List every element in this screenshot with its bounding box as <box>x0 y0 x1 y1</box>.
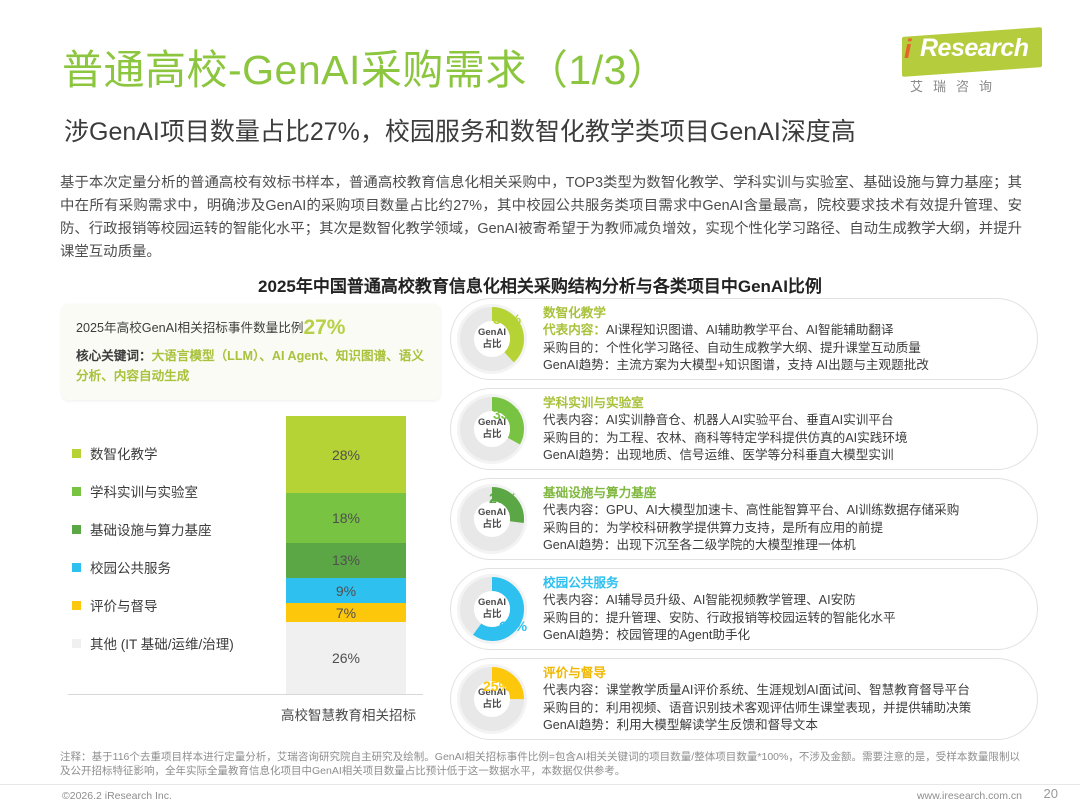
core-keywords-label: 核心关键词： <box>76 349 152 363</box>
card-detail-row: 代表内容：GPU、AI大模型加速卡、高性能智算平台、AI训练数据存储采购 <box>543 502 1023 520</box>
card-detail-label: 代表内容： <box>543 593 606 607</box>
card-category-title: 数智化教学 <box>543 305 1023 322</box>
card-detail-label: GenAI趋势： <box>543 628 616 642</box>
card-detail-text: 出现地质、信号运维、医学等分科垂直大模型实训 <box>616 448 893 462</box>
legend-item[interactable]: 其他 (IT 基础/运维/治理) <box>72 624 282 662</box>
keyword-ratio-line: 2025年高校GenAI相关招标事件数量比例27% <box>76 318 428 338</box>
iresearch-logo: i Research 艾瑞咨询 <box>894 28 1042 100</box>
bar-segment[interactable]: 7% <box>286 603 406 622</box>
page-subtitle: 涉GenAI项目数量占比27%，校园服务和数智化教学类项目GenAI深度高 <box>64 112 856 148</box>
core-keywords-line: 核心关键词：大语言模型（LLM）、AI Agent、知识图谱、语义分析、内容自动… <box>76 346 428 386</box>
card-content: 数智化教学代表内容：AI课程知识图谱、AI辅助教学平台、AI智能辅助翻译采购目的… <box>543 305 1023 375</box>
card-detail-row: GenAI趋势：主流方案为大模型+知识图谱，支持 AI出题与主观题批改 <box>543 357 1023 375</box>
legend-label: 其他 (IT 基础/运维/治理) <box>90 633 234 653</box>
legend-item[interactable]: 校园公共服务 <box>72 548 282 586</box>
bar-segment-value: 28% <box>332 447 360 463</box>
genai-share-donut-chart: GenAI占比60% <box>455 572 529 646</box>
card-detail-text: 课堂教学质量AI评价系统、生涯规划AI面试间、智慧教育督导平台 <box>606 683 970 697</box>
card-category-title: 基础设施与算力基座 <box>543 485 1023 502</box>
card-detail-row: 采购目的：利用视频、语音识别技术客观评估师生课堂表现，并提供辅助决策 <box>543 700 1023 718</box>
card-detail-text: 为学校科研教学提供算力支持，是所有应用的前提 <box>606 521 883 535</box>
legend-label: 数智化教学 <box>90 443 158 463</box>
card-detail-row: GenAI趋势：校园管理的Agent助手化 <box>543 627 1023 645</box>
category-cards-list: GenAI占比38%数智化教学代表内容：AI课程知识图谱、AI辅助教学平台、AI… <box>450 298 1038 748</box>
bar-segment[interactable]: 26% <box>286 622 406 694</box>
card-detail-row: 代表内容：AI辅导员升级、AI智能视频教学管理、AI安防 <box>543 592 1023 610</box>
bar-segment-value: 9% <box>336 583 356 599</box>
copyright-text: ©2026.2 iResearch Inc. <box>62 790 172 802</box>
bar-segment[interactable]: 28% <box>286 416 406 493</box>
card-detail-label: 采购目的： <box>543 431 606 445</box>
card-content: 学科实训与实验室代表内容：AI实训静音仓、机器人AI实验平台、垂直AI实训平台采… <box>543 395 1023 465</box>
donut-percentage-label: 60% <box>499 618 527 634</box>
card-content: 评价与督导代表内容：课堂教学质量AI评价系统、生涯规划AI面试间、智慧教育督导平… <box>543 665 1023 735</box>
footer-divider <box>0 784 1080 785</box>
card-detail-text: 利用视频、语音识别技术客观评估师生课堂表现，并提供辅助决策 <box>606 701 971 715</box>
card-detail-row: 采购目的：为学校科研教学提供算力支持，是所有应用的前提 <box>543 520 1023 538</box>
bar-segment[interactable]: 9% <box>286 578 406 603</box>
card-detail-label: 代表内容： <box>543 323 606 337</box>
card-detail-row: 代表内容：AI实训静音仓、机器人AI实验平台、垂直AI实训平台 <box>543 412 1023 430</box>
chart-axis-line <box>68 694 423 695</box>
card-detail-label: GenAI趋势： <box>543 448 616 462</box>
legend-color-swatch <box>72 449 81 458</box>
logo-chinese-name: 艾瑞咨询 <box>910 76 1002 95</box>
stacked-bar-chart: 数智化教学学科实训与实验室基础设施与算力基座校园公共服务评价与督导其他 (IT … <box>58 416 440 716</box>
page-number: 20 <box>1044 786 1058 801</box>
category-card[interactable]: GenAI占比33%学科实训与实验室代表内容：AI实训静音仓、机器人AI实验平台… <box>450 388 1038 470</box>
card-detail-row: 采购目的：为工程、农林、商科等特定学科提供仿真的AI实践环境 <box>543 430 1023 448</box>
card-detail-label: GenAI趋势： <box>543 538 616 552</box>
card-detail-row: 代表内容：课堂教学质量AI评价系统、生涯规划AI面试间、智慧教育督导平台 <box>543 682 1023 700</box>
category-card[interactable]: GenAI占比38%数智化教学代表内容：AI课程知识图谱、AI辅助教学平台、AI… <box>450 298 1038 380</box>
keyword-summary-box: 2025年高校GenAI相关招标事件数量比例27% 核心关键词：大语言模型（LL… <box>62 304 440 400</box>
card-detail-row: 采购目的：个性化学习路径、自动生成教学大纲、提升课堂互动质量 <box>543 340 1023 358</box>
donut-percentage-label: 27% <box>489 490 517 506</box>
card-content: 校园公共服务代表内容：AI辅导员升级、AI智能视频教学管理、AI安防采购目的：提… <box>543 575 1023 645</box>
card-detail-text: GPU、AI大模型加速卡、高性能智算平台、AI训练数据存储采购 <box>606 503 959 517</box>
chart-title: 2025年中国普通高校教育信息化相关采购结构分析与各类项目中GenAI比例 <box>0 272 1080 297</box>
footnote: 注释：基于116个去重项目样本进行定量分析，艾瑞咨询研究院自主研究及绘制。Gen… <box>60 750 1020 778</box>
card-detail-row: 采购目的：提升管理、安防、行政报销等校园运转的智能化水平 <box>543 610 1023 628</box>
card-detail-text: 提升管理、安防、行政报销等校园运转的智能化水平 <box>606 611 896 625</box>
card-detail-label: GenAI趋势： <box>543 358 616 372</box>
card-detail-row: GenAI趋势：出现地质、信号运维、医学等分科垂直大模型实训 <box>543 447 1023 465</box>
card-content: 基础设施与算力基座代表内容：GPU、AI大模型加速卡、高性能智算平台、AI训练数… <box>543 485 1023 555</box>
keyword-ratio-value: 27% <box>303 316 345 339</box>
card-category-title: 学科实训与实验室 <box>543 395 1023 412</box>
legend-label: 基础设施与算力基座 <box>90 519 212 539</box>
genai-share-donut-chart: GenAI占比33% <box>455 392 529 466</box>
legend-item[interactable]: 基础设施与算力基座 <box>72 510 282 548</box>
legend-color-swatch <box>72 525 81 534</box>
card-detail-text: AI课程知识图谱、AI辅助教学平台、AI智能辅助翻译 <box>606 323 894 337</box>
x-axis-label: 高校智慧教育相关招标 <box>266 704 431 724</box>
legend-label: 学科实训与实验室 <box>90 481 198 501</box>
card-detail-label: 采购目的： <box>543 611 606 625</box>
card-detail-label: 采购目的： <box>543 341 606 355</box>
card-detail-label: 采购目的： <box>543 521 606 535</box>
chart-legend: 数智化教学学科实训与实验室基础设施与算力基座校园公共服务评价与督导其他 (IT … <box>72 434 282 662</box>
card-detail-text: 校园管理的Agent助手化 <box>616 628 750 642</box>
category-card[interactable]: GenAI占比25%评价与督导代表内容：课堂教学质量AI评价系统、生涯规划AI面… <box>450 658 1038 740</box>
donut-percentage-label: 38% <box>493 311 521 327</box>
card-detail-label: 代表内容： <box>543 503 606 517</box>
card-category-title: 校园公共服务 <box>543 575 1023 592</box>
logo-i-letter: i <box>904 36 912 63</box>
genai-share-donut-chart: GenAI占比25% <box>455 662 529 736</box>
legend-item[interactable]: 学科实训与实验室 <box>72 472 282 510</box>
legend-item[interactable]: 评价与督导 <box>72 586 282 624</box>
bar-segment-value: 13% <box>332 552 360 568</box>
card-detail-text: 主流方案为大模型+知识图谱，支持 AI出题与主观题批改 <box>616 358 928 372</box>
card-detail-label: 采购目的： <box>543 701 606 715</box>
legend-label: 校园公共服务 <box>90 557 171 577</box>
legend-color-swatch <box>72 487 81 496</box>
stacked-bar-column: 28%18%13%9%7%26% <box>286 416 406 694</box>
intro-paragraph: 基于本次定量分析的普通高校有效标书样本，普通高校教育信息化相关采购中，TOP3类… <box>60 172 1022 264</box>
card-detail-text: 利用大模型解读学生反馈和督导文本 <box>616 718 818 732</box>
card-detail-label: 代表内容： <box>543 683 606 697</box>
donut-percentage-label: 25% <box>483 678 511 694</box>
card-category-title: 评价与督导 <box>543 665 1023 682</box>
bar-segment-value: 26% <box>332 650 360 666</box>
category-card[interactable]: GenAI占比27%基础设施与算力基座代表内容：GPU、AI大模型加速卡、高性能… <box>450 478 1038 560</box>
card-detail-text: AI实训静音仓、机器人AI实验平台、垂直AI实训平台 <box>606 413 894 427</box>
left-chart-panel: 2025年高校GenAI相关招标事件数量比例27% 核心关键词：大语言模型（LL… <box>58 300 440 740</box>
logo-wordmark: Research <box>920 36 1029 61</box>
card-detail-row: 代表内容：AI课程知识图谱、AI辅助教学平台、AI智能辅助翻译 <box>543 322 1023 340</box>
legend-label: 评价与督导 <box>90 595 158 615</box>
page-title: 普通高校-GenAI采购需求（1/3） <box>62 36 668 96</box>
category-card[interactable]: GenAI占比60%校园公共服务代表内容：AI辅导员升级、AI智能视频教学管理、… <box>450 568 1038 650</box>
card-detail-row: GenAI趋势：出现下沉至各二级学院的大模型推理一体机 <box>543 537 1023 555</box>
card-detail-text: 为工程、农林、商科等特定学科提供仿真的AI实践环境 <box>606 431 908 445</box>
bar-segment[interactable]: 18% <box>286 493 406 543</box>
donut-percentage-label: 33% <box>493 406 521 422</box>
genai-share-donut-chart: GenAI占比27% <box>455 482 529 556</box>
legend-color-swatch <box>72 601 81 610</box>
bar-segment-value: 18% <box>332 510 360 526</box>
bar-segment-value: 7% <box>336 605 356 621</box>
card-detail-text: 个性化学习路径、自动生成教学大纲、提升课堂互动质量 <box>606 341 921 355</box>
keyword-ratio-label: 2025年高校GenAI相关招标事件数量比例 <box>76 321 303 335</box>
bar-segment[interactable]: 13% <box>286 543 406 579</box>
card-detail-text: AI辅导员升级、AI智能视频教学管理、AI安防 <box>606 593 856 607</box>
card-detail-label: GenAI趋势： <box>543 718 616 732</box>
card-detail-row: GenAI趋势：利用大模型解读学生反馈和督导文本 <box>543 717 1023 735</box>
legend-item[interactable]: 数智化教学 <box>72 434 282 472</box>
website-url: www.iresearch.com.cn <box>917 790 1022 802</box>
genai-share-donut-chart: GenAI占比38% <box>455 302 529 376</box>
card-detail-text: 出现下沉至各二级学院的大模型推理一体机 <box>616 538 855 552</box>
card-detail-label: 代表内容： <box>543 413 606 427</box>
legend-color-swatch <box>72 563 81 572</box>
legend-color-swatch <box>72 639 81 648</box>
